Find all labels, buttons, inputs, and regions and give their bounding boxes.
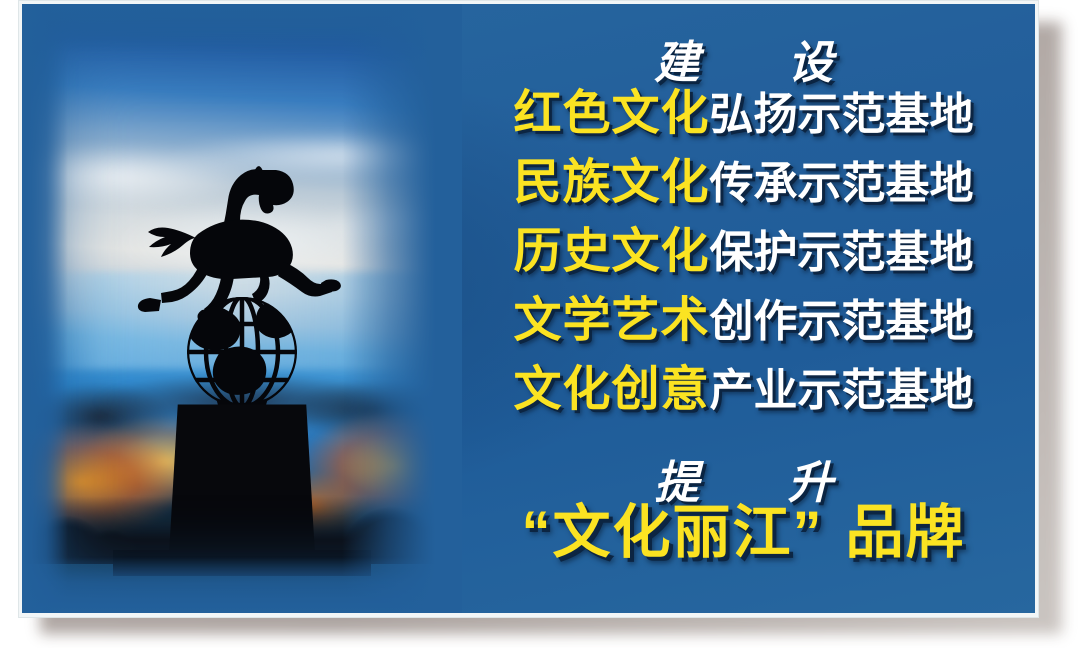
- monument-photo: [22, 4, 462, 613]
- brand-suffix: 品牌: [846, 500, 966, 565]
- base-line: 历史文化保护示范基地: [452, 228, 1035, 276]
- base-line: 红色文化弘扬示范基地: [452, 90, 1035, 138]
- base-line: 民族文化传承示范基地: [452, 159, 1035, 207]
- base-line: 文学艺术创作示范基地: [452, 297, 1035, 345]
- globe-sphere-icon: [180, 294, 304, 412]
- poster-root: 建 设 红色文化弘扬示范基地 民族文化传承示范基地 历史文化保护示范基地 文学艺…: [0, 0, 1080, 648]
- base-line-highlight: 民族文化: [513, 156, 709, 209]
- blue-panel: 建 设 红色文化弘扬示范基地 民族文化传承示范基地 历史文化保护示范基地 文学艺…: [22, 4, 1035, 613]
- base-line-rest: 传承示范基地: [710, 159, 974, 208]
- brand-quoted: “文化丽江”: [521, 500, 823, 565]
- base-line-highlight: 文化创意: [513, 363, 709, 416]
- base-line-rest: 创作示范基地: [710, 297, 974, 346]
- base-line-highlight: 文学艺术: [513, 294, 709, 347]
- base-line-highlight: 历史文化: [513, 225, 709, 278]
- heading-jianshe: 建 设: [452, 26, 1035, 91]
- slogan-text-column: 建 设 红色文化弘扬示范基地 民族文化传承示范基地 历史文化保护示范基地 文学艺…: [452, 4, 1035, 613]
- monument-pedestal-icon: [169, 404, 315, 554]
- base-line-rest: 保护示范基地: [710, 228, 974, 277]
- photo-canvas: [22, 4, 462, 613]
- monument-base: [113, 550, 371, 576]
- base-line-highlight: 红色文化: [513, 87, 709, 140]
- brand-line: “文化丽江”品牌: [452, 504, 1035, 562]
- base-line: 文化创意产业示范基地: [452, 366, 1035, 414]
- monument-silhouette: [92, 16, 392, 576]
- base-line-rest: 产业示范基地: [710, 366, 974, 415]
- base-line-rest: 弘扬示范基地: [710, 90, 974, 139]
